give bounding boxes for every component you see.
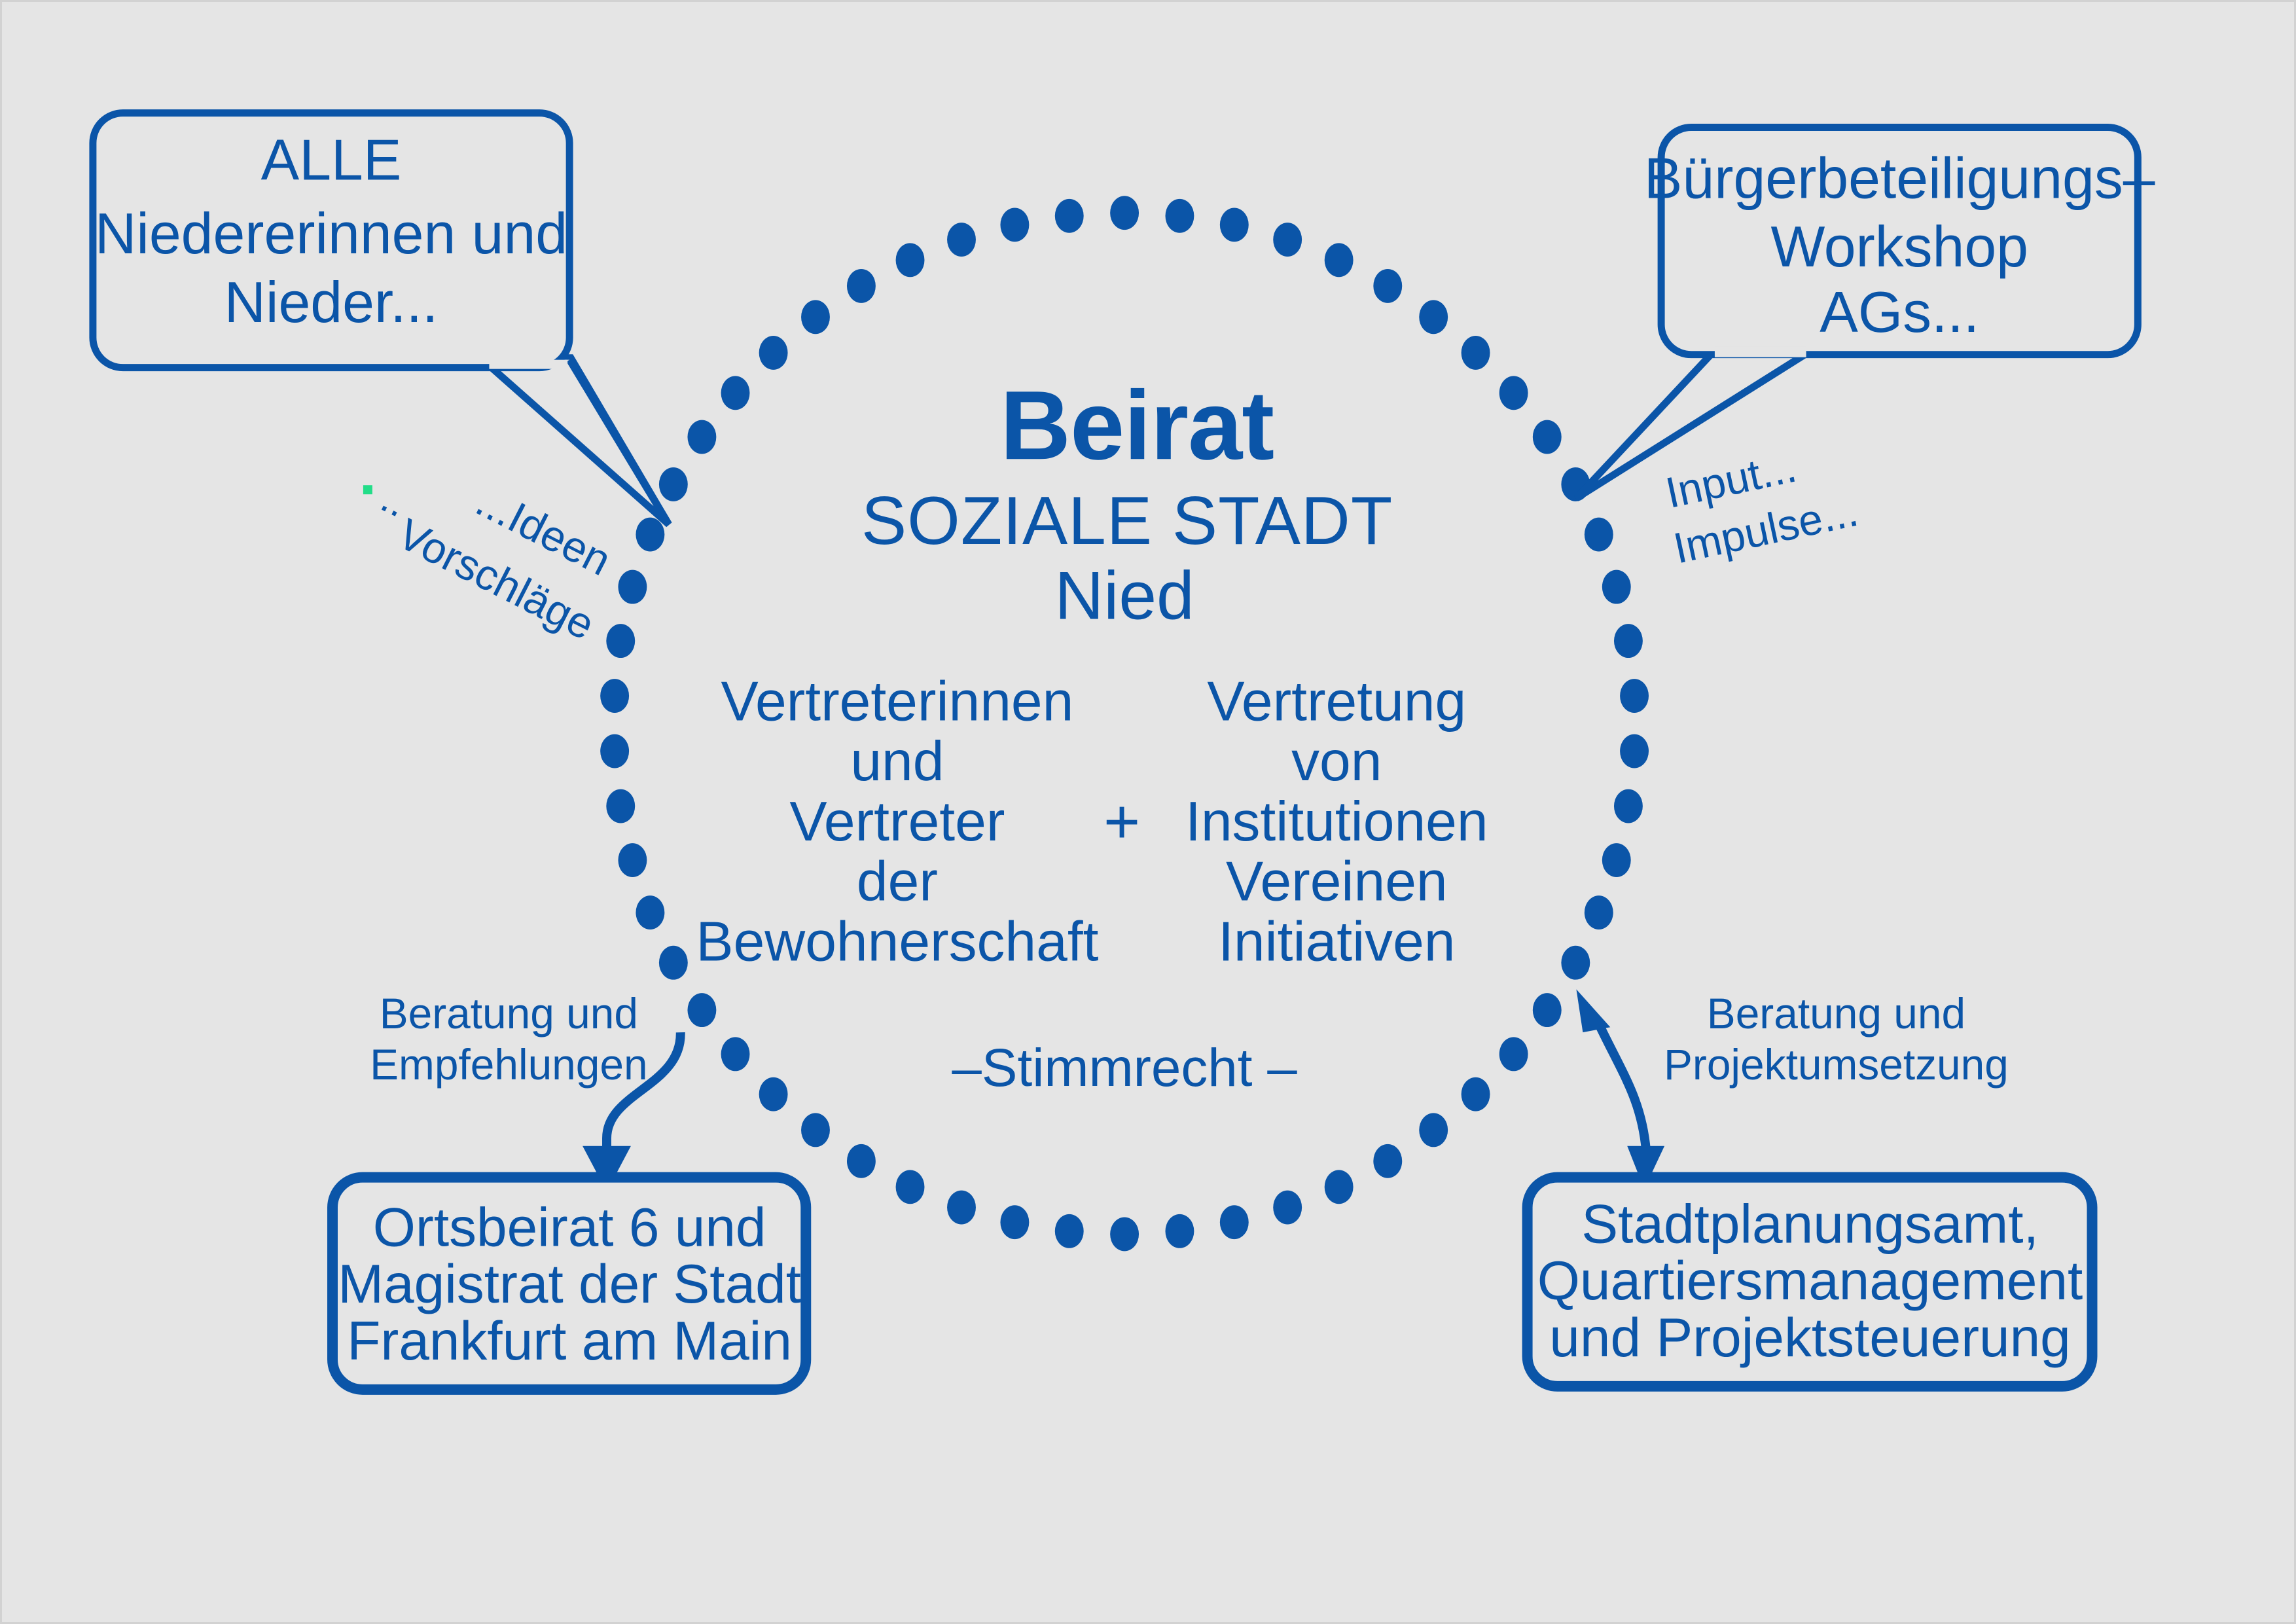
ring-dot (618, 570, 647, 604)
ring-dot (847, 1144, 876, 1178)
right-column-line-1: Vertretung (1207, 670, 1466, 732)
box-stadtplanungsamt-line-3: und Projektsteuerung (1549, 1307, 2070, 1368)
ring-dot (1273, 1191, 1302, 1225)
ring-dot (1165, 1214, 1194, 1248)
arrow-right-head-up (1576, 989, 1610, 1032)
ring-dot (606, 789, 635, 823)
left-column-line-1: Vertreterinnen (721, 670, 1073, 732)
ring-dot (1220, 208, 1249, 242)
ring-dot (659, 946, 688, 980)
box-stadtplanungsamt-line-1: Stadtplanungsamt, (1581, 1193, 2039, 1254)
ring-dot (759, 336, 788, 370)
ring-dot (1620, 734, 1649, 768)
ring-dot (1462, 1077, 1490, 1111)
ring-dot (600, 734, 629, 768)
ring-dot (1614, 789, 1643, 823)
ring-dot (1533, 420, 1562, 454)
ring-dot (687, 993, 716, 1027)
ring-dot (618, 843, 647, 877)
ring-dot (896, 243, 925, 277)
ring-dot (759, 1077, 788, 1111)
ring-dot (1373, 1144, 1402, 1178)
annotation-left-line-2: Empfehlungen (370, 1040, 648, 1089)
annotation-left-line-1: Beratung und (380, 989, 638, 1038)
left-column-line-5: Bewohnerschaft (696, 910, 1098, 973)
box-stadtplanungsamt-line-2: Quartiersmanagement (1537, 1250, 2083, 1311)
speech-bubble-citizens[interactable]: ALLE Niedererinnen und Nieder... (93, 113, 669, 524)
box-stadtplanungsamt[interactable]: Stadtplanungsamt, Quartiersmanagement un… (1528, 1178, 2092, 1386)
tail-joint-mask (489, 360, 567, 369)
center-subtitle-line1: SOZIALE STADT (861, 482, 1393, 558)
speech-bubble-workshops[interactable]: Bürgerbeteiligungs– Workshop AGs... (1576, 128, 2155, 499)
ring-dot (1614, 624, 1643, 658)
right-column-line-3: Institutionen (1185, 790, 1488, 853)
left-column-line-4: der (857, 850, 938, 913)
ring-dot (1000, 1205, 1029, 1239)
flow-label-right-group: Input... Impulse... (1662, 442, 1862, 573)
ring-dot (1220, 1205, 1249, 1239)
ring-dot (1325, 1170, 1354, 1204)
tail-joint-mask-right (1715, 347, 1806, 357)
ring-dot (1055, 1214, 1084, 1248)
right-column-line-5: Initiativen (1218, 910, 1455, 973)
speech-bubble-workshops-line-2: Workshop (1770, 215, 2028, 279)
box-ortsbeirat[interactable]: Ortsbeirat 6 und Magistrat der Stadt Fra… (332, 1178, 806, 1390)
plus-sign: + (1103, 787, 1140, 857)
ring-dot (636, 895, 664, 929)
ring-dot (1000, 208, 1029, 242)
ring-dot (721, 376, 750, 410)
green-speck (363, 485, 372, 494)
ring-dot (600, 679, 629, 713)
arrow-beirat-to-ortsbeirat: Beratung und Empfehlungen (370, 989, 681, 1191)
flow-label-left-group: .. ...Ideen Vorschläge (363, 476, 619, 649)
ring-dot (1110, 196, 1139, 230)
speech-bubble-citizens-line-3: Nieder... (224, 270, 439, 334)
ring-dot (1585, 895, 1613, 929)
box-ortsbeirat-line-3: Frankfurt am Main (347, 1310, 792, 1371)
stimmrecht-label: –Stimmrecht – (952, 1038, 1297, 1098)
ring-dot (1273, 223, 1302, 257)
ring-dot (1462, 336, 1490, 370)
arrow-right-curve (1598, 1022, 1646, 1151)
ring-dot (947, 223, 976, 257)
ring-dot (1620, 679, 1649, 713)
ring-dot (1499, 376, 1528, 410)
ring-dot (847, 269, 876, 303)
right-column-line-4: Vereinen (1226, 850, 1448, 913)
ring-dot (801, 1113, 830, 1147)
ring-dot (1561, 946, 1590, 980)
ring-dot (636, 518, 664, 552)
left-column-line-2: und (850, 730, 944, 793)
ring-dot (1419, 300, 1448, 334)
beirat-diagram: Beirat SOZIALE STADT Nied Vertreterinnen… (2, 2, 2294, 1622)
speech-bubble-citizens-line-1: ALLE (261, 128, 402, 192)
annotation-right-line-1: Beratung und (1707, 989, 1965, 1038)
ring-dot (801, 300, 830, 334)
ring-dot (1585, 518, 1613, 552)
arrow-beirat-to-stadtplanung: Beratung und Projektumsetzung (1576, 989, 2008, 1189)
ring-dot (1110, 1217, 1139, 1251)
speech-bubble-workshops-line-3: AGs... (1820, 280, 1979, 344)
box-ortsbeirat-line-1: Ortsbeirat 6 und (373, 1196, 766, 1257)
ring-dot (1499, 1037, 1528, 1071)
ring-dot (1602, 843, 1631, 877)
ring-dot (896, 1170, 925, 1204)
ring-dot (687, 420, 716, 454)
ring-dot (1533, 993, 1562, 1027)
right-column-line-2: von (1291, 730, 1382, 793)
box-ortsbeirat-line-2: Magistrat der Stadt (338, 1253, 801, 1314)
center-subtitle-line2: Nied (1054, 558, 1194, 634)
ring-dot (606, 624, 635, 658)
speech-bubble-workshops-line-1: Bürgerbeteiligungs– (1644, 146, 2155, 210)
center-title: Beirat (1000, 370, 1274, 480)
speech-bubble-citizens-line-2: Niedererinnen und (95, 202, 567, 266)
left-column-line-3: Vertreter (789, 790, 1005, 853)
center-text-group: Beirat SOZIALE STADT Nied Vertreterinnen… (696, 370, 1488, 1098)
annotation-right-line-2: Projektumsetzung (1664, 1040, 2009, 1089)
ring-dot (659, 467, 688, 501)
ring-dot (1419, 1113, 1448, 1147)
ring-dot (1325, 243, 1354, 277)
ring-dot (1602, 570, 1631, 604)
ring-dot (1373, 269, 1402, 303)
diagram-canvas: Beirat SOZIALE STADT Nied Vertreterinnen… (0, 0, 2296, 1624)
ring-dot (721, 1037, 750, 1071)
ring-dot (1055, 199, 1084, 233)
ring-dot (1165, 199, 1194, 233)
ring-dot (947, 1191, 976, 1225)
